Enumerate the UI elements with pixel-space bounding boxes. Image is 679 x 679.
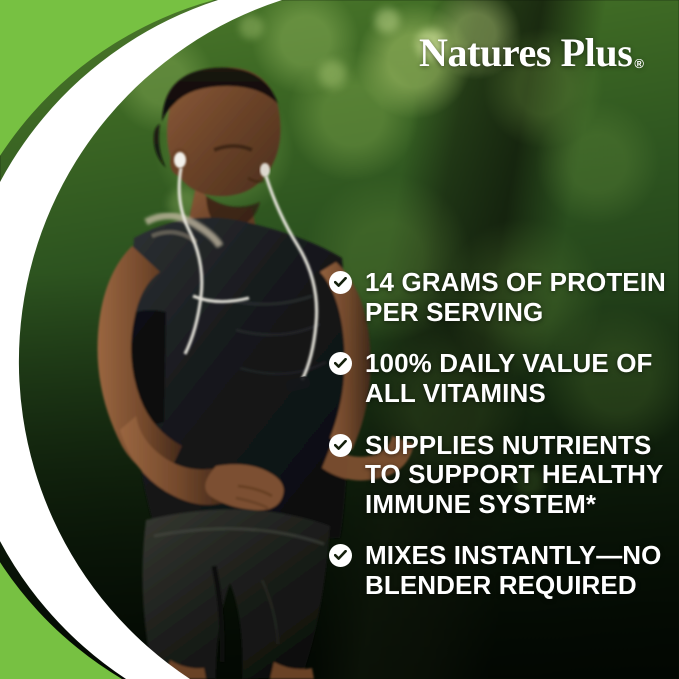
benefit-text: SUPPLIES NUTRIENTS TO SUPPORT HEALTHY IM… bbox=[365, 431, 663, 520]
check-circle-icon bbox=[329, 271, 352, 294]
benefit-item: 100% DAILY VALUE OF ALL VITAMINS bbox=[329, 349, 669, 408]
benefit-item: SUPPLIES NUTRIENTS TO SUPPORT HEALTHY IM… bbox=[329, 431, 669, 520]
benefit-list: 14 GRAMS OF PROTEIN PER SERVING 100% DAI… bbox=[329, 268, 669, 601]
registered-trademark-symbol: ® bbox=[634, 56, 643, 71]
brand-logo-text: Natures Plus bbox=[419, 30, 632, 75]
marketing-image-canvas: Natures Plus® 14 GRAMS OF PROTEIN PER SE… bbox=[0, 0, 679, 679]
check-circle-icon bbox=[329, 544, 352, 567]
benefit-item: MIXES INSTANTLY—NO BLENDER REQUIRED bbox=[329, 541, 669, 600]
check-circle-icon bbox=[329, 352, 352, 375]
benefit-item: 14 GRAMS OF PROTEIN PER SERVING bbox=[329, 268, 669, 327]
check-circle-icon bbox=[329, 434, 352, 457]
benefit-text: 100% DAILY VALUE OF ALL VITAMINS bbox=[365, 349, 653, 408]
benefit-text: MIXES INSTANTLY—NO BLENDER REQUIRED bbox=[365, 541, 662, 600]
benefit-text: 14 GRAMS OF PROTEIN PER SERVING bbox=[365, 268, 666, 327]
brand-logo: Natures Plus® bbox=[419, 33, 642, 73]
